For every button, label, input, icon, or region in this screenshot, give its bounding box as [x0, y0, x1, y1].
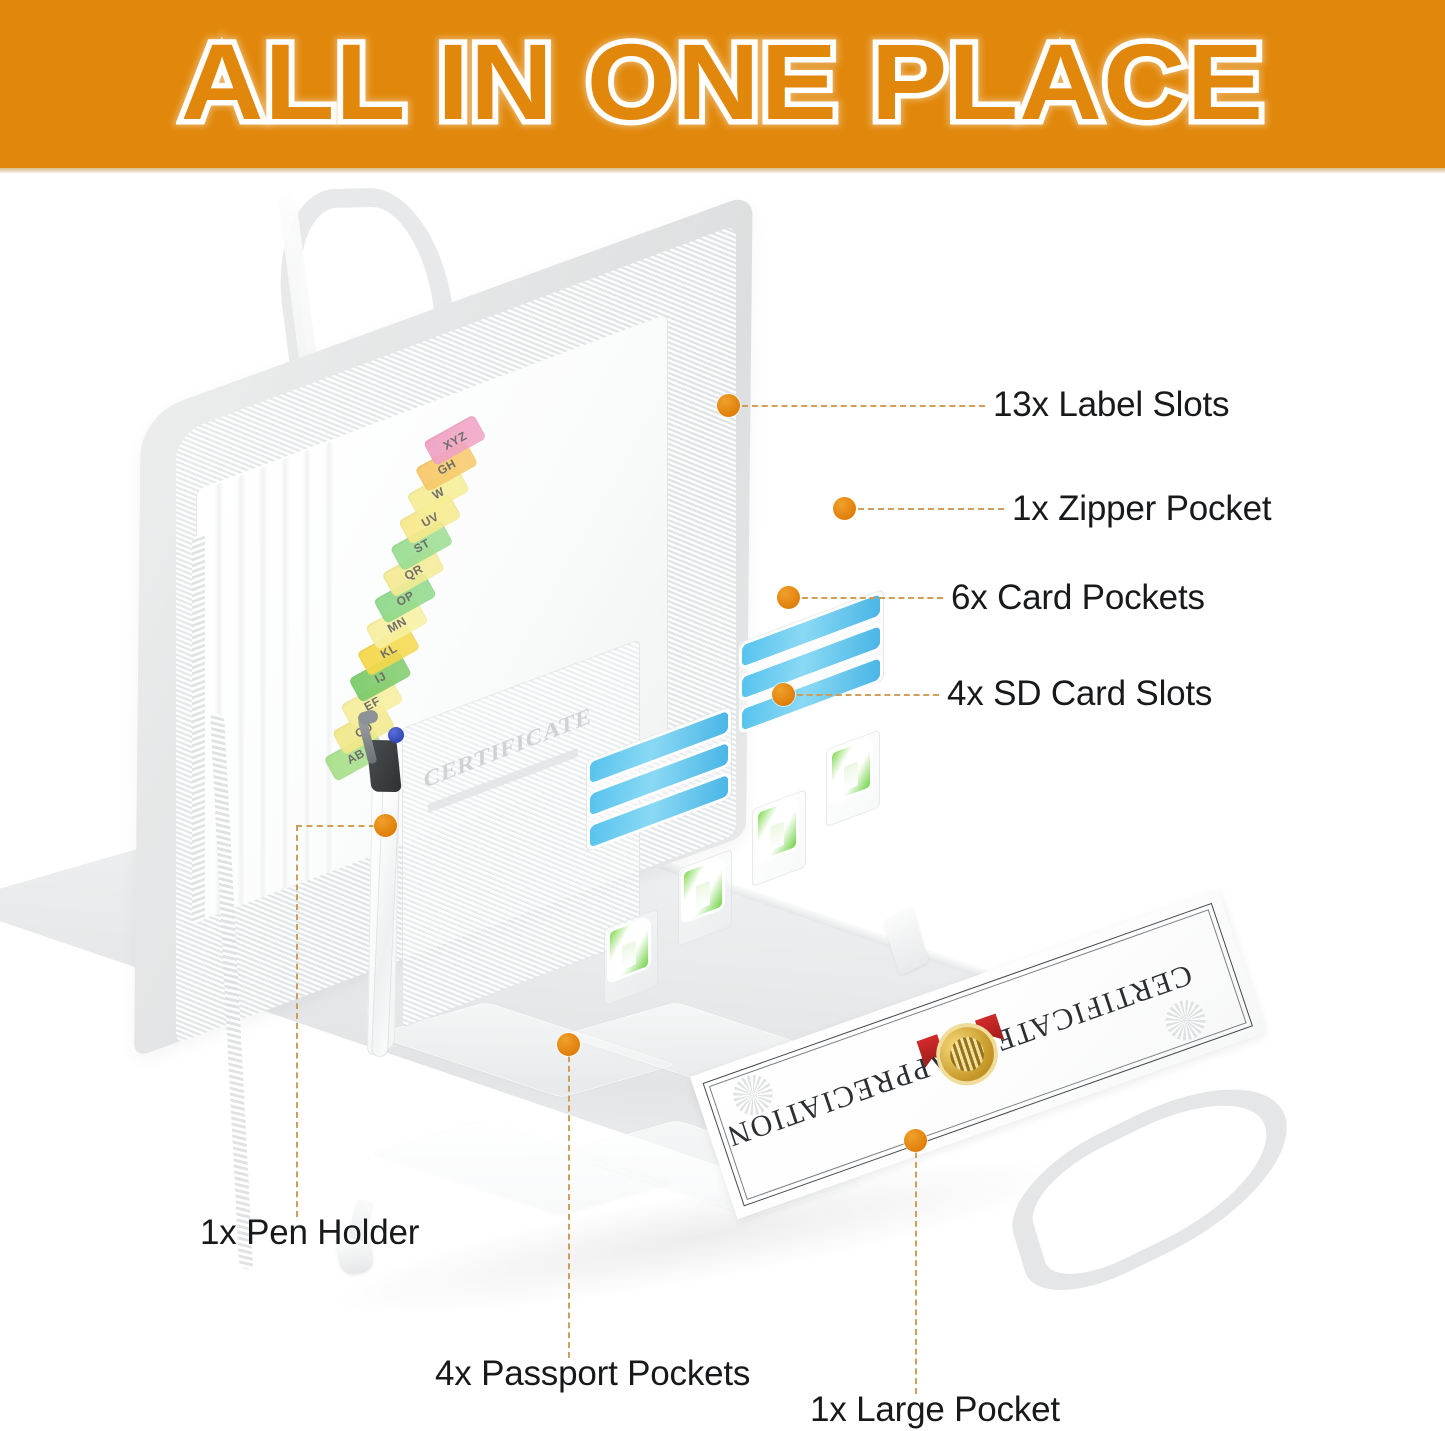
callout-dot[interactable]	[904, 1129, 927, 1152]
infographic-canvas: ALL IN ONE PLACE ALL IN ONE PLACE CERTIF…	[0, 0, 1445, 1431]
callout-label-passport-pockets: 4x Passport Pockets	[435, 1354, 750, 1394]
callout-leader-line	[802, 597, 943, 599]
callout-leader-line	[797, 694, 939, 696]
sd-card-notch	[770, 821, 784, 850]
pen-button-icon	[388, 727, 404, 743]
certificate-seal-inner	[946, 1032, 989, 1076]
callout-leader-line	[742, 405, 985, 407]
callout-label-zipper-pocket: 1x Zipper Pocket	[1012, 489, 1271, 529]
callout-dot[interactable]	[777, 586, 800, 609]
callout-leader-line	[858, 508, 1004, 510]
callout-dot[interactable]	[557, 1033, 580, 1056]
sd-card-notch	[844, 762, 858, 791]
callout-label-large-pocket: 1x Large Pocket	[810, 1390, 1060, 1430]
sd-card-notch	[696, 881, 710, 910]
callout-leader-line	[296, 825, 375, 827]
callout-leader-line	[568, 1056, 570, 1358]
label-slot-tab-text: XYZ	[441, 428, 470, 452]
callout-dot[interactable]	[772, 683, 795, 706]
callout-label-card-pockets: 6x Card Pockets	[951, 578, 1205, 618]
header-banner: ALL IN ONE PLACE ALL IN ONE PLACE	[0, 0, 1445, 172]
callout-label-sd-card-slots: 4x SD Card Slots	[947, 674, 1212, 714]
callout-dot[interactable]	[833, 497, 856, 520]
callout-leader-line	[296, 825, 298, 1217]
callout-dot[interactable]	[717, 394, 740, 417]
callout-label-label-slots: 13x Label Slots	[993, 385, 1229, 425]
callout-label-pen-holder: 1x Pen Holder	[200, 1213, 419, 1253]
sd-card-notch	[622, 941, 636, 970]
page-title: ALL IN ONE PLACE	[0, 22, 1445, 142]
accordion-edge-binding	[192, 533, 205, 926]
callout-dot[interactable]	[374, 814, 397, 837]
callout-leader-line	[915, 1152, 917, 1394]
